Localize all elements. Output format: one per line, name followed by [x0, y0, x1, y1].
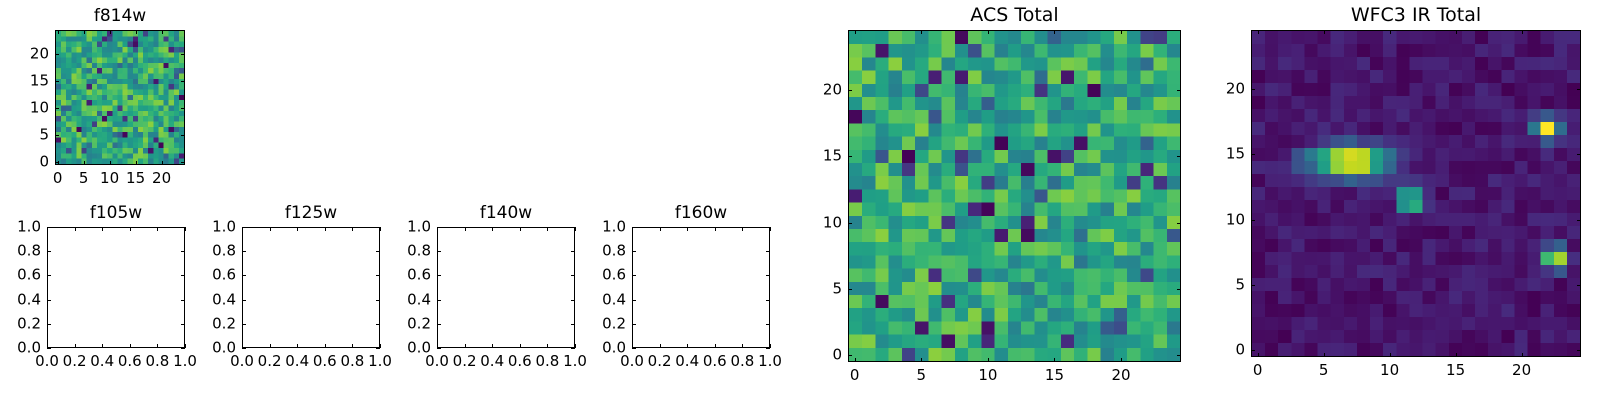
ytick-f160w-1	[632, 324, 636, 325]
xtick-f160w-3	[715, 344, 716, 348]
yticklabel-f105w-3: 0.6	[0, 268, 41, 283]
xtick-wfc3_ir_total-2	[1390, 353, 1391, 357]
xtick-f105w-5	[185, 344, 186, 348]
matplotlib-figure: f814w f105w f125w f140w f160w ACS Total …	[0, 0, 1600, 400]
ytick-right-f814w-3	[181, 81, 185, 82]
yticklabel-f160w-2: 0.4	[584, 292, 626, 307]
ytick-f125w-1	[242, 324, 246, 325]
ytick-right-f160w-3	[766, 275, 770, 276]
ytick-acs_total-0	[848, 355, 852, 356]
xtick-top-f125w-5	[380, 227, 381, 231]
xtick-f105w-2	[102, 344, 103, 348]
xtick-top-acs_total-4	[1121, 30, 1122, 34]
xticklabel-f814w-0: 0	[53, 171, 63, 186]
ytick-right-acs_total-3	[1177, 156, 1181, 157]
xtick-top-f125w-1	[270, 227, 271, 231]
ytick-f125w-3	[242, 275, 246, 276]
yticklabel-f160w-3: 0.6	[584, 268, 626, 283]
xtick-f105w-4	[157, 344, 158, 348]
ytick-right-f140w-0	[571, 348, 575, 349]
ytick-f160w-4	[632, 251, 636, 252]
xtick-top-f125w-2	[297, 227, 298, 231]
xtick-top-acs_total-2	[988, 30, 989, 34]
yticklabel-f125w-1: 0.2	[194, 316, 236, 331]
xticklabel-f140w-1: 0.2	[453, 354, 477, 369]
xticklabel-f105w-1: 0.2	[63, 354, 87, 369]
xtick-f814w-2	[110, 161, 111, 165]
xtick-f160w-5	[770, 344, 771, 348]
yticklabel-acs_total-0: 0	[800, 348, 842, 363]
ytick-right-wfc3_ir_total-3	[1577, 154, 1581, 155]
ytick-right-acs_total-2	[1177, 223, 1181, 224]
ytick-acs_total-4	[848, 90, 852, 91]
ytick-f814w-2	[55, 108, 59, 109]
yticklabel-acs_total-2: 10	[800, 215, 842, 230]
xtick-top-f140w-1	[465, 227, 466, 231]
ytick-right-f105w-2	[181, 300, 185, 301]
ytick-right-acs_total-1	[1177, 289, 1181, 290]
ytick-f814w-3	[55, 81, 59, 82]
ytick-f125w-4	[242, 251, 246, 252]
xtick-top-acs_total-3	[1054, 30, 1055, 34]
yticklabel-f125w-2: 0.4	[194, 292, 236, 307]
yticklabel-f125w-4: 0.8	[194, 244, 236, 259]
ytick-f105w-3	[47, 275, 51, 276]
xticklabel-f125w-2: 0.4	[285, 354, 309, 369]
xtick-top-f814w-3	[136, 30, 137, 34]
ytick-f160w-2	[632, 300, 636, 301]
yticklabel-f105w-1: 0.2	[0, 316, 41, 331]
ytick-right-f160w-4	[766, 251, 770, 252]
ytick-right-f814w-1	[181, 135, 185, 136]
yticklabel-wfc3_ir_total-3: 15	[1203, 147, 1245, 162]
ytick-right-f814w-0	[181, 162, 185, 163]
ytick-f105w-2	[47, 300, 51, 301]
xticklabel-f125w-4: 0.8	[340, 354, 364, 369]
yticklabel-wfc3_ir_total-1: 5	[1203, 278, 1245, 293]
yticklabel-f105w-2: 0.4	[0, 292, 41, 307]
xtick-top-f814w-4	[162, 30, 163, 34]
xticklabel-f125w-3: 0.6	[313, 354, 337, 369]
ytick-right-f125w-1	[376, 324, 380, 325]
xticklabel-f814w-1: 5	[79, 171, 89, 186]
ytick-f160w-3	[632, 275, 636, 276]
xtick-top-f105w-4	[157, 227, 158, 231]
xticklabel-f160w-2: 0.4	[675, 354, 699, 369]
xtick-f125w-2	[297, 344, 298, 348]
ytick-wfc3_ir_total-4	[1251, 89, 1255, 90]
ytick-f140w-4	[437, 251, 441, 252]
xticklabel-f105w-4: 0.8	[145, 354, 169, 369]
xticklabel-wfc3_ir_total-0: 0	[1253, 363, 1263, 378]
xticklabel-f140w-5: 1.0	[563, 354, 587, 369]
xticklabel-f125w-1: 0.2	[258, 354, 282, 369]
ytick-acs_total-3	[848, 156, 852, 157]
ytick-right-f125w-5	[376, 227, 380, 228]
ytick-right-wfc3_ir_total-2	[1577, 220, 1581, 221]
ytick-f814w-1	[55, 135, 59, 136]
ytick-right-f125w-2	[376, 300, 380, 301]
xtick-f105w-1	[75, 344, 76, 348]
xtick-top-f814w-0	[58, 30, 59, 34]
yticklabel-acs_total-4: 20	[800, 82, 842, 97]
xtick-wfc3_ir_total-3	[1456, 353, 1457, 357]
xticklabel-wfc3_ir_total-4: 20	[1512, 363, 1531, 378]
ytick-f140w-5	[437, 227, 441, 228]
ytick-acs_total-2	[848, 223, 852, 224]
ytick-f140w-1	[437, 324, 441, 325]
xticklabel-f814w-2: 10	[100, 171, 119, 186]
xtick-acs_total-2	[988, 358, 989, 362]
xtick-wfc3_ir_total-1	[1324, 353, 1325, 357]
yticklabel-f125w-5: 1.0	[194, 220, 236, 235]
ytick-right-f140w-1	[571, 324, 575, 325]
yticklabel-acs_total-3: 15	[800, 149, 842, 164]
ytick-right-acs_total-4	[1177, 90, 1181, 91]
ytick-f160w-5	[632, 227, 636, 228]
yticklabel-f814w-3: 15	[7, 74, 49, 89]
ytick-f814w-0	[55, 162, 59, 163]
yticklabel-f140w-0: 0.0	[389, 341, 431, 356]
xticklabel-acs_total-3: 15	[1045, 368, 1064, 383]
xticklabel-f105w-5: 1.0	[173, 354, 197, 369]
yticklabel-f814w-0: 0	[7, 155, 49, 170]
yticklabel-f140w-3: 0.6	[389, 268, 431, 283]
xtick-f160w-4	[742, 344, 743, 348]
yticklabel-f160w-5: 1.0	[584, 220, 626, 235]
ytick-right-f140w-4	[571, 251, 575, 252]
xtick-top-f140w-2	[492, 227, 493, 231]
ytick-wfc3_ir_total-2	[1251, 220, 1255, 221]
xtick-f125w-4	[352, 344, 353, 348]
yticklabel-f814w-2: 10	[7, 101, 49, 116]
ytick-wfc3_ir_total-3	[1251, 154, 1255, 155]
xtick-top-acs_total-0	[855, 30, 856, 34]
ytick-f140w-0	[437, 348, 441, 349]
ytick-f105w-4	[47, 251, 51, 252]
xticklabel-f160w-5: 1.0	[758, 354, 782, 369]
xtick-f105w-3	[130, 344, 131, 348]
xtick-f140w-4	[547, 344, 548, 348]
ytick-right-f125w-4	[376, 251, 380, 252]
xticklabel-wfc3_ir_total-1: 5	[1319, 363, 1329, 378]
yticklabel-f125w-0: 0.0	[194, 341, 236, 356]
xtick-top-f160w-3	[715, 227, 716, 231]
ytick-right-wfc3_ir_total-1	[1577, 285, 1581, 286]
xticklabel-f814w-4: 20	[152, 171, 171, 186]
xtick-top-f160w-2	[687, 227, 688, 231]
xtick-acs_total-0	[855, 358, 856, 362]
xtick-top-f160w-4	[742, 227, 743, 231]
ytick-right-f105w-4	[181, 251, 185, 252]
xtick-top-wfc3_ir_total-3	[1456, 30, 1457, 34]
ytick-right-f105w-1	[181, 324, 185, 325]
xtick-top-f105w-3	[130, 227, 131, 231]
ytick-right-f160w-5	[766, 227, 770, 228]
xtick-f140w-2	[492, 344, 493, 348]
ytick-f125w-0	[242, 348, 246, 349]
ytick-wfc3_ir_total-1	[1251, 285, 1255, 286]
xtick-top-f125w-4	[352, 227, 353, 231]
xtick-top-f160w-5	[770, 227, 771, 231]
xticklabel-f814w-3: 15	[126, 171, 145, 186]
xtick-top-acs_total-1	[921, 30, 922, 34]
ytick-f125w-2	[242, 300, 246, 301]
ytick-right-f160w-1	[766, 324, 770, 325]
ytick-f105w-1	[47, 324, 51, 325]
xticklabel-wfc3_ir_total-3: 15	[1446, 363, 1465, 378]
xticklabel-f105w-2: 0.4	[90, 354, 114, 369]
xtick-wfc3_ir_total-4	[1522, 353, 1523, 357]
ytick-right-f105w-5	[181, 227, 185, 228]
xtick-top-f105w-1	[75, 227, 76, 231]
yticklabel-f160w-4: 0.8	[584, 244, 626, 259]
xtick-wfc3_ir_total-0	[1258, 353, 1259, 357]
ytick-wfc3_ir_total-0	[1251, 350, 1255, 351]
yticklabel-acs_total-1: 5	[800, 281, 842, 296]
ytick-right-f125w-0	[376, 348, 380, 349]
xtick-f814w-4	[162, 161, 163, 165]
xtick-f140w-3	[520, 344, 521, 348]
ytick-right-f105w-0	[181, 348, 185, 349]
xticklabel-f140w-3: 0.6	[508, 354, 532, 369]
yticklabel-f160w-1: 0.2	[584, 316, 626, 331]
ytick-right-f814w-2	[181, 108, 185, 109]
axis-decoration-layer: 05101520051015200.00.20.40.60.81.00.00.2…	[0, 0, 1600, 400]
ytick-right-f125w-3	[376, 275, 380, 276]
ytick-right-wfc3_ir_total-0	[1577, 350, 1581, 351]
ytick-f105w-0	[47, 348, 51, 349]
yticklabel-wfc3_ir_total-2: 10	[1203, 212, 1245, 227]
ytick-f125w-5	[242, 227, 246, 228]
xtick-f140w-1	[465, 344, 466, 348]
ytick-right-f140w-5	[571, 227, 575, 228]
xticklabel-f105w-3: 0.6	[118, 354, 142, 369]
yticklabel-f160w-0: 0.0	[584, 341, 626, 356]
yticklabel-f105w-0: 0.0	[0, 341, 41, 356]
xtick-f814w-1	[84, 161, 85, 165]
xtick-top-f125w-3	[325, 227, 326, 231]
xtick-f160w-1	[660, 344, 661, 348]
ytick-right-wfc3_ir_total-4	[1577, 89, 1581, 90]
xticklabel-f140w-4: 0.8	[535, 354, 559, 369]
yticklabel-f140w-1: 0.2	[389, 316, 431, 331]
xtick-top-wfc3_ir_total-0	[1258, 30, 1259, 34]
xticklabel-acs_total-1: 5	[916, 368, 926, 383]
xticklabel-wfc3_ir_total-2: 10	[1380, 363, 1399, 378]
xtick-f140w-5	[575, 344, 576, 348]
xticklabel-f160w-4: 0.8	[730, 354, 754, 369]
yticklabel-f814w-1: 5	[7, 128, 49, 143]
xtick-top-f140w-3	[520, 227, 521, 231]
yticklabel-f140w-5: 1.0	[389, 220, 431, 235]
ytick-f140w-2	[437, 300, 441, 301]
xtick-top-f105w-2	[102, 227, 103, 231]
ytick-right-f105w-3	[181, 275, 185, 276]
xtick-acs_total-1	[921, 358, 922, 362]
xtick-acs_total-4	[1121, 358, 1122, 362]
xtick-acs_total-3	[1054, 358, 1055, 362]
xtick-f125w-1	[270, 344, 271, 348]
ytick-f140w-3	[437, 275, 441, 276]
yticklabel-f140w-4: 0.8	[389, 244, 431, 259]
xtick-top-wfc3_ir_total-2	[1390, 30, 1391, 34]
xtick-f814w-3	[136, 161, 137, 165]
xticklabel-f140w-2: 0.4	[480, 354, 504, 369]
yticklabel-f125w-3: 0.6	[194, 268, 236, 283]
xtick-top-wfc3_ir_total-1	[1324, 30, 1325, 34]
xticklabel-acs_total-2: 10	[978, 368, 997, 383]
xticklabel-f160w-1: 0.2	[648, 354, 672, 369]
xtick-top-f814w-2	[110, 30, 111, 34]
yticklabel-f140w-2: 0.4	[389, 292, 431, 307]
yticklabel-f105w-5: 1.0	[0, 220, 41, 235]
xtick-top-f105w-5	[185, 227, 186, 231]
ytick-f160w-0	[632, 348, 636, 349]
ytick-f814w-4	[55, 54, 59, 55]
xtick-top-f140w-5	[575, 227, 576, 231]
ytick-right-acs_total-0	[1177, 355, 1181, 356]
yticklabel-wfc3_ir_total-4: 20	[1203, 81, 1245, 96]
ytick-acs_total-1	[848, 289, 852, 290]
xticklabel-acs_total-0: 0	[850, 368, 860, 383]
xtick-f125w-5	[380, 344, 381, 348]
xtick-top-f160w-1	[660, 227, 661, 231]
ytick-right-f160w-0	[766, 348, 770, 349]
yticklabel-f105w-4: 0.8	[0, 244, 41, 259]
yticklabel-f814w-4: 20	[7, 47, 49, 62]
ytick-right-f160w-2	[766, 300, 770, 301]
ytick-f105w-5	[47, 227, 51, 228]
xtick-f125w-3	[325, 344, 326, 348]
xticklabel-f160w-3: 0.6	[703, 354, 727, 369]
ytick-right-f814w-4	[181, 54, 185, 55]
xtick-f160w-2	[687, 344, 688, 348]
xtick-top-f814w-1	[84, 30, 85, 34]
yticklabel-wfc3_ir_total-0: 0	[1203, 343, 1245, 358]
ytick-right-f140w-3	[571, 275, 575, 276]
xticklabel-acs_total-4: 20	[1112, 368, 1131, 383]
xtick-top-f140w-4	[547, 227, 548, 231]
xticklabel-f125w-5: 1.0	[368, 354, 392, 369]
ytick-right-f140w-2	[571, 300, 575, 301]
xtick-top-wfc3_ir_total-4	[1522, 30, 1523, 34]
